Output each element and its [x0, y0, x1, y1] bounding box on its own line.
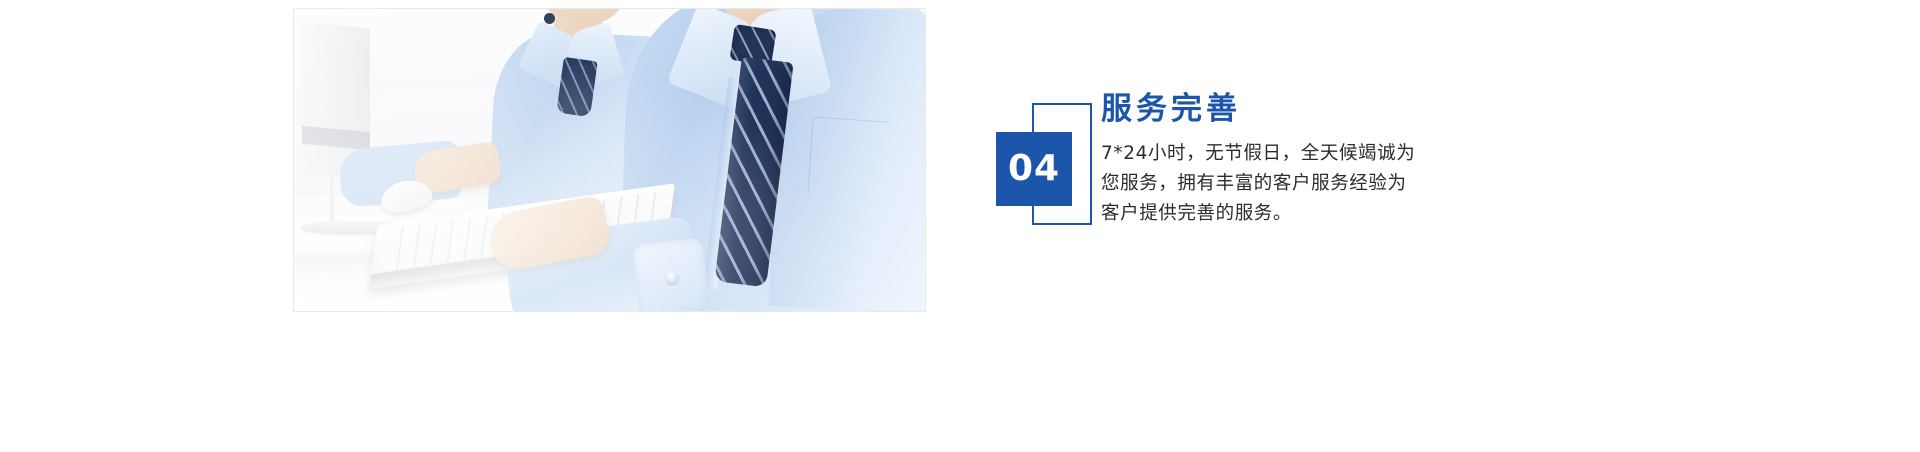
foreground-agent-shirt-pocket — [807, 116, 891, 196]
feature-description-line: 客户提供完善的服务。 — [1101, 199, 1501, 229]
feature-content: 04 服务完善 7*24小时，无节假日，全天候竭诚为 您服务，拥有丰富的客户服务… — [996, 92, 1696, 272]
feature-description-line: 您服务，拥有丰富的客户服务经验为 — [1101, 169, 1501, 199]
shirt-cuff-button-icon — [666, 271, 679, 284]
feature-text-column: 服务完善 7*24小时，无节假日，全天候竭诚为 您服务，拥有丰富的客户服务经验为… — [1101, 92, 1621, 229]
feature-number-badge: 04 — [996, 132, 1072, 206]
feature-description: 7*24小时，无节假日，全天候竭诚为 您服务，拥有丰富的客户服务经验为 客户提供… — [1101, 139, 1501, 229]
feature-number-label: 04 — [1008, 151, 1060, 187]
feature-title: 服务完善 — [1101, 92, 1621, 127]
service-feature-banner: 04 服务完善 7*24小时，无节假日，全天候竭诚为 您服务，拥有丰富的客户服务… — [0, 0, 1920, 452]
monitor-stand-neck — [330, 177, 335, 225]
feature-description-line: 7*24小时，无节假日，全天候竭诚为 — [1101, 139, 1501, 169]
customer-service-photo — [294, 9, 925, 311]
headset-microphone-icon — [544, 13, 555, 24]
feature-photo-frame — [293, 8, 926, 312]
